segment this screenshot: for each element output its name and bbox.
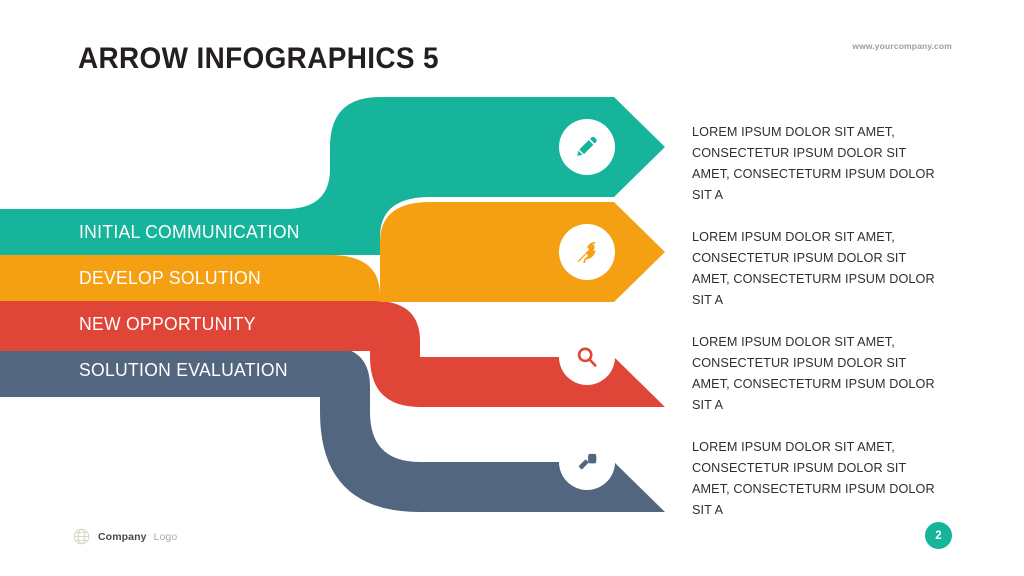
page-number-badge: 2 — [925, 522, 952, 549]
bar-label-new-opportunity: NEW OPPORTUNITY — [79, 313, 256, 335]
icon-badge-step-4[interactable] — [559, 434, 615, 490]
icon-badge-step-1[interactable] — [559, 119, 615, 175]
footer-logo-strong: Company — [98, 531, 147, 543]
description-step-1: LOREM IPSUM DOLOR SIT AMET, CONSECTETUR … — [692, 121, 944, 205]
bar-label-develop-solution: DEVELOP SOLUTION — [79, 267, 261, 289]
bar-label-initial-communication: INITIAL COMMUNICATION — [79, 221, 300, 243]
icon-badge-step-3[interactable] — [559, 329, 615, 385]
pencil-icon — [574, 134, 600, 160]
page-title: ARROW INFOGRAPHICS 5 — [78, 42, 439, 76]
footer-logo-light: Logo — [154, 531, 178, 543]
slide-canvas: ARROW INFOGRAPHICS 5 www.yourcompany.com… — [0, 0, 1024, 576]
feather-icon — [574, 239, 600, 265]
description-step-3: LOREM IPSUM DOLOR SIT AMET, CONSECTETUR … — [692, 331, 944, 415]
bar-label-solution-evaluation: SOLUTION EVALUATION — [79, 359, 288, 381]
site-url-label: www.yourcompany.com — [852, 41, 952, 51]
flashlight-icon — [574, 449, 600, 475]
globe-icon — [72, 527, 91, 546]
footer-logo: Company Logo — [72, 527, 177, 546]
search-icon — [574, 344, 600, 370]
description-step-4: LOREM IPSUM DOLOR SIT AMET, CONSECTETUR … — [692, 436, 944, 520]
icon-badge-step-2[interactable] — [559, 224, 615, 280]
description-step-2: LOREM IPSUM DOLOR SIT AMET, CONSECTETUR … — [692, 226, 944, 310]
